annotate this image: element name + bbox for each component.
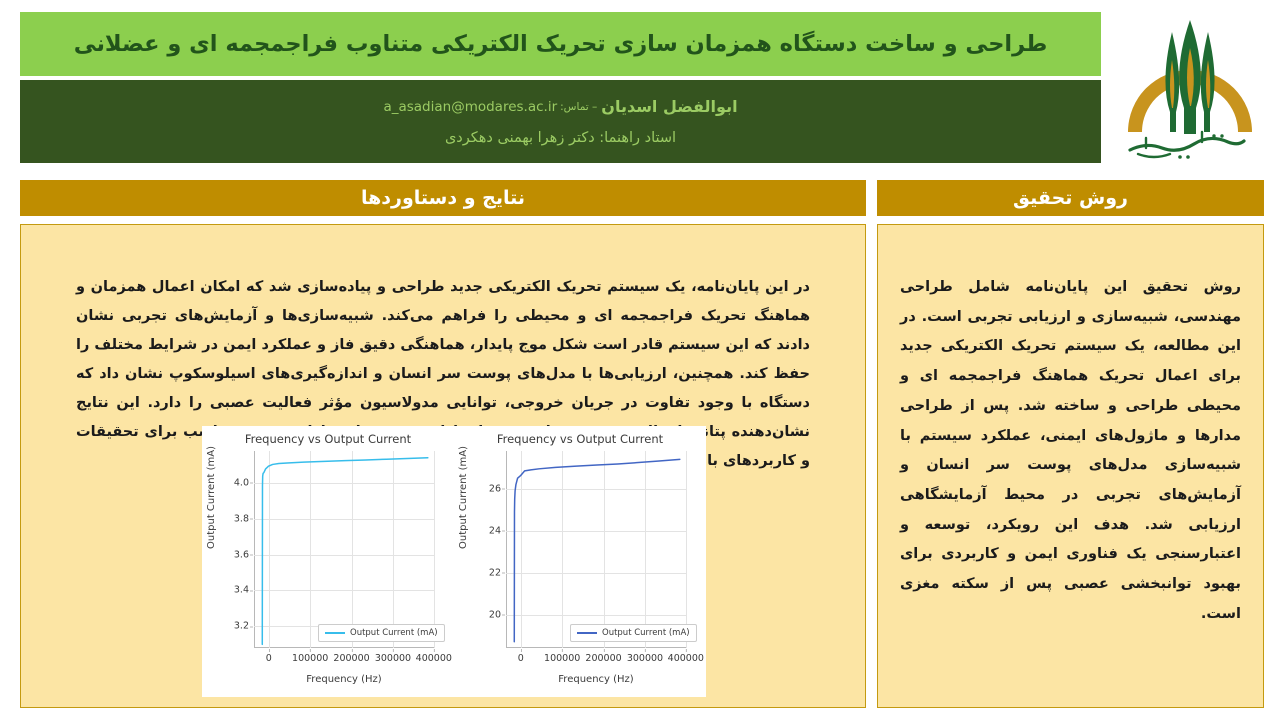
chart-left-series-svg [506, 451, 686, 648]
chart-right: Frequency vs Output Current Output Curre… [202, 426, 454, 697]
figure-frequency-vs-output-current: Frequency vs Output Current Output Curre… [202, 426, 706, 697]
university-logo [1110, 8, 1270, 168]
chart-left-xtick: 100000 [544, 653, 580, 664]
chart-right-xlabel: Frequency (Hz) [254, 674, 434, 685]
chart-left-plot-area: 20 22 24 26 0 100000 200000 300000 40000… [506, 451, 686, 648]
section-header-results-label: نتایج و دستاوردها [361, 187, 525, 209]
chart-right-series-line [262, 458, 428, 645]
poster-title-band: طراحی و ساخت دستگاه همزمان سازی تحریک ال… [20, 12, 1101, 76]
author-name: ابوالفضل اسدیان [601, 97, 737, 116]
chart-right-ytick: 3.2 [234, 621, 249, 632]
legend-swatch-icon [577, 632, 597, 634]
method-body-text: روش تحقیق این پایان‌نامه شامل طراحی مهند… [900, 273, 1241, 630]
chart-left-xtick: 300000 [627, 653, 663, 664]
chart-left-series-line [514, 459, 680, 641]
chart-right-legend: Output Current (mA) [318, 624, 445, 642]
chart-left-xtick: 0 [518, 653, 524, 664]
legend-swatch-icon [325, 632, 345, 634]
chart-right-xtick: 200000 [333, 653, 369, 664]
author-band: ابوالفضل اسدیان – تماس: a_asadian@modare… [20, 80, 1101, 163]
chart-right-plot-area: 3.2 3.4 3.6 3.8 4.0 0 100000 200000 3000… [254, 451, 434, 648]
chart-right-legend-label: Output Current (mA) [350, 628, 438, 638]
chart-left-ytick: 22 [489, 567, 501, 578]
chart-right-ytick: 4.0 [234, 477, 249, 488]
chart-right-ytick: 3.4 [234, 585, 249, 596]
chart-left-legend-label: Output Current (mA) [602, 628, 690, 638]
chart-left-xtick: 400000 [668, 653, 704, 664]
author-contact-line: ابوالفضل اسدیان – تماس: a_asadian@modare… [383, 97, 737, 116]
chart-right-ytick: 3.6 [234, 549, 249, 560]
page-title: طراحی و ساخت دستگاه همزمان سازی تحریک ال… [74, 31, 1048, 58]
chart-right-xtick: 100000 [292, 653, 328, 664]
panel-results: در این پایان‌نامه، یک سیستم تحریک الکتری… [20, 224, 866, 708]
chart-left-title: Frequency vs Output Current [454, 432, 706, 446]
panel-method: روش تحقیق این پایان‌نامه شامل طراحی مهند… [877, 224, 1264, 708]
chart-left: Frequency vs Output Current Output Curre… [454, 426, 706, 697]
chart-left-ytick: 24 [489, 525, 501, 536]
section-header-method-label: روش تحقیق [1013, 187, 1128, 209]
chart-left-ytick: 20 [489, 609, 501, 620]
chart-right-ytick: 3.8 [234, 513, 249, 524]
chart-right-xtick: 0 [266, 653, 272, 664]
author-email[interactable]: a_asadian@modares.ac.ir [383, 99, 557, 115]
chart-left-xtick: 200000 [585, 653, 621, 664]
chart-left-ytick: 26 [489, 483, 501, 494]
poster-root: طراحی و ساخت دستگاه همزمان سازی تحریک ال… [0, 0, 1280, 720]
chart-left-legend: Output Current (mA) [570, 624, 697, 642]
chart-right-title: Frequency vs Output Current [202, 432, 454, 446]
chart-left-xlabel: Frequency (Hz) [506, 674, 686, 685]
supervisor-line: استاد راهنما: دکتر زهرا بهمنی دهکردی [445, 130, 676, 146]
chart-right-xtick: 300000 [375, 653, 411, 664]
chart-right-series-svg [254, 451, 434, 648]
section-header-results: نتایج و دستاوردها [20, 180, 866, 216]
section-header-method: روش تحقیق [877, 180, 1264, 216]
chart-left-ylabel: Output Current (mA) [458, 446, 469, 549]
chart-right-xtick: 400000 [416, 653, 452, 664]
chart-right-ylabel: Output Current (mA) [206, 446, 217, 549]
logo-calligraphy [1130, 132, 1244, 159]
contact-label: – تماس: [557, 101, 601, 113]
